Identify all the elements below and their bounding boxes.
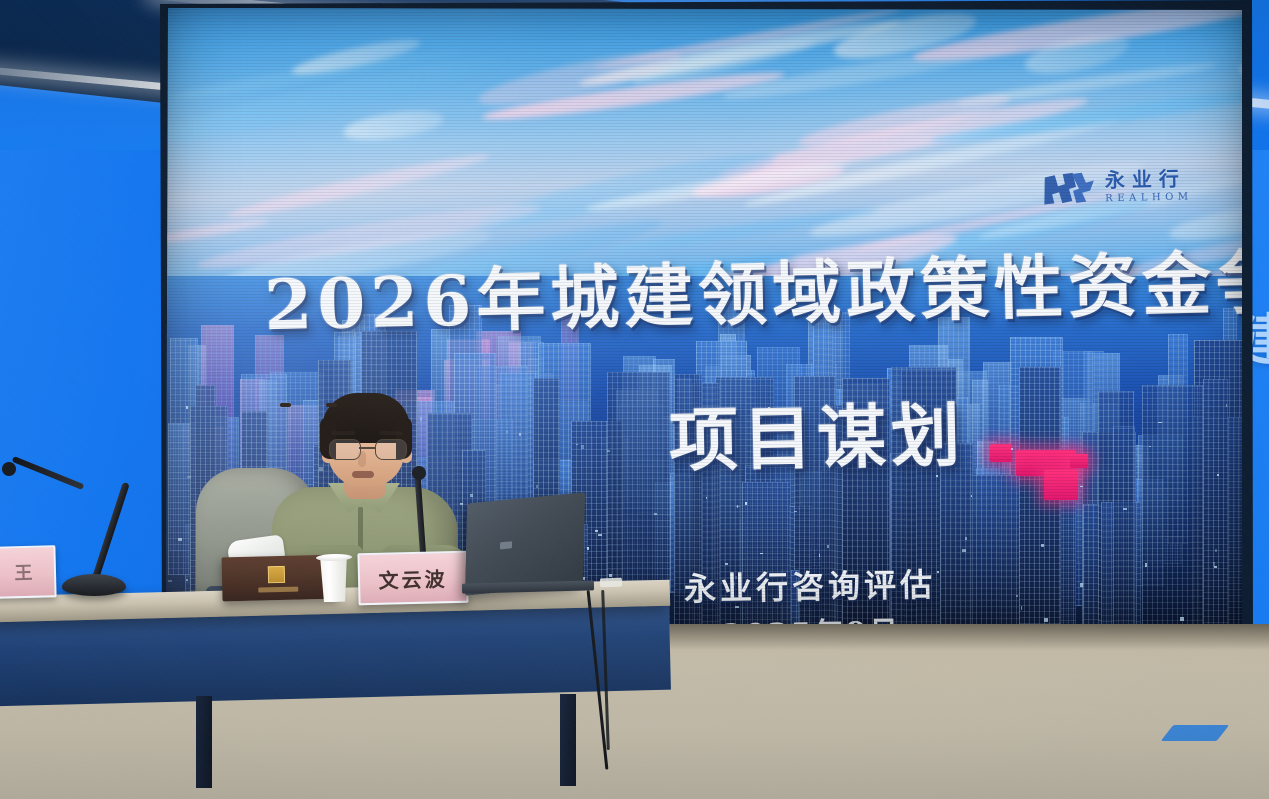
window-glint (737, 505, 738, 508)
building-windows (794, 376, 836, 659)
building-windows (674, 374, 702, 632)
laptop-logo-icon (500, 541, 512, 549)
window-glint (1044, 618, 1048, 622)
window-glint (1016, 595, 1018, 597)
window-glint (819, 554, 820, 557)
window-glint (186, 406, 188, 408)
neon-accent (990, 444, 1012, 462)
window-glint (1217, 474, 1219, 476)
window-glint (595, 530, 599, 532)
window-glint (923, 405, 925, 408)
cloud-streak (164, 216, 270, 246)
window-glint (706, 497, 707, 499)
nameplate-secondary: 王 (0, 545, 57, 598)
window-glint (1021, 606, 1023, 609)
window-glint (965, 537, 967, 539)
microphone-capsule-secondary (412, 466, 426, 480)
window-glint (583, 577, 584, 580)
window-glint (168, 580, 171, 582)
window-glint (1080, 486, 1083, 488)
skyline-building (1019, 367, 1062, 659)
nameplate-secondary-text: 王 (14, 559, 36, 586)
window-glint (971, 495, 972, 498)
presenter-brow-left (331, 431, 355, 435)
window-glint (1080, 583, 1083, 587)
window-glint (867, 462, 871, 463)
window-glint (937, 571, 939, 573)
tissue-box-emblem-icon (268, 566, 285, 583)
window-glint (598, 534, 602, 536)
building-windows (1113, 426, 1136, 652)
desk-leg (196, 696, 212, 788)
presenter-eye-right (326, 403, 337, 407)
desk-small-object (600, 578, 622, 588)
window-glint (460, 503, 463, 505)
window-glint (733, 582, 735, 586)
skyline-building (1113, 426, 1136, 652)
window-glint (609, 574, 612, 577)
nameplate-presenter: 文云波 (357, 551, 468, 606)
window-glint (745, 502, 747, 505)
building-windows (842, 378, 891, 624)
window-glint (768, 407, 770, 409)
building-windows (1142, 385, 1210, 639)
skyline-building (674, 374, 702, 632)
window-glint (1180, 617, 1184, 621)
window-glint (936, 475, 939, 477)
window-glint (735, 606, 739, 608)
skyline-building (940, 443, 972, 637)
window-glint (796, 587, 799, 589)
window-glint (786, 426, 789, 430)
window-glint (760, 553, 763, 554)
glasses-lens-left (329, 439, 361, 460)
window-glint (1214, 566, 1217, 567)
window-glint (607, 450, 609, 452)
skyline-building (842, 378, 891, 624)
neon-accent (1044, 470, 1078, 500)
presenter-brow-right (379, 431, 403, 436)
window-glint (587, 547, 589, 550)
microphone-capsule (2, 462, 16, 476)
skyline-building (794, 376, 836, 659)
building-windows (940, 443, 972, 637)
window-glint (793, 415, 795, 418)
window-glint (470, 494, 473, 497)
window-glint (720, 419, 723, 423)
presenter-eye-left (280, 403, 291, 407)
window-glint (187, 476, 191, 478)
neon-accent (1070, 454, 1088, 468)
window-glint (178, 538, 181, 541)
window-glint (1158, 422, 1162, 423)
window-glint (702, 412, 704, 413)
microphone-base (62, 574, 126, 596)
window-glint (1149, 446, 1150, 448)
window-glint (725, 563, 728, 565)
window-glint (1215, 549, 1217, 551)
cloud-streak (1167, 197, 1244, 247)
window-glint (1226, 404, 1227, 407)
window-glint (1041, 544, 1044, 548)
window-glint (794, 511, 797, 512)
building-windows (1019, 367, 1062, 659)
window-glint (758, 417, 762, 418)
floor-tape-marker (1161, 725, 1230, 741)
window-glint (519, 433, 521, 436)
window-glint (576, 444, 578, 445)
glasses-lens-right (375, 439, 407, 460)
window-glint (581, 445, 584, 448)
window-glint (1145, 563, 1147, 566)
cloud-streak (341, 106, 445, 145)
window-glint (962, 549, 965, 552)
glasses-icon (328, 439, 406, 459)
nameplate-presenter-text: 文云波 (378, 563, 448, 594)
presenter-nose (358, 451, 366, 467)
window-glint (1011, 448, 1013, 450)
desk-leg (560, 694, 576, 786)
glasses-bridge (359, 447, 375, 449)
meeting-room-photo: 建 AN 建 2026年城建领域政策性资金争取与 项目谋划 永业行咨询评估 20… (0, 0, 1269, 799)
tissue-box-subtext (258, 587, 298, 593)
window-glint (186, 579, 188, 582)
window-glint (506, 431, 508, 433)
presenter-mouth (352, 471, 374, 478)
window-glint (654, 513, 657, 515)
skyline-building (1203, 379, 1227, 659)
window-glint (536, 485, 538, 488)
building-windows (1203, 379, 1227, 659)
window-glint (827, 545, 828, 548)
window-glint (1123, 508, 1127, 510)
window-glint (735, 576, 737, 579)
skyline-building (1142, 385, 1210, 639)
